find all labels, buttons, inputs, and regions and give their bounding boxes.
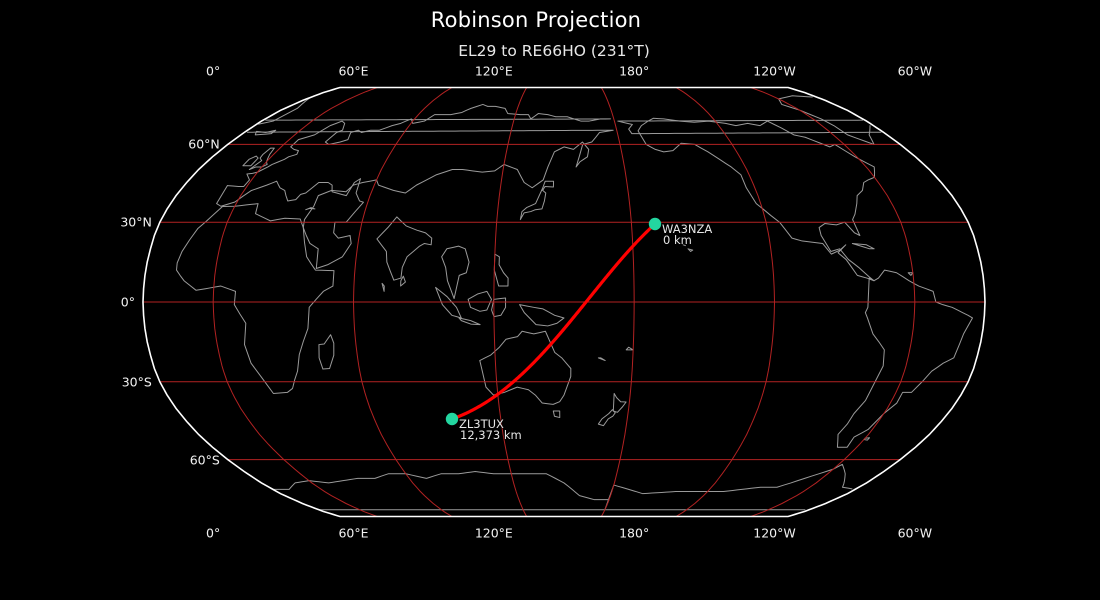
coastline-polygon [638, 118, 875, 280]
coastline-polygon [217, 130, 614, 268]
lon-tick-bottom-0: 60°E [338, 526, 368, 541]
map-continents-group [177, 96, 973, 510]
map-figure: Robinson Projection EL29 to RE66HO (231°… [0, 0, 1100, 600]
coastline-polygon [553, 411, 559, 418]
coastline-polygon [480, 331, 571, 404]
lon-tick-bottom-2: 180° [619, 526, 649, 541]
lon-tick-top-3: 120°W [753, 64, 795, 79]
coastline-polygon [442, 246, 469, 298]
coastline-polygon [382, 283, 384, 291]
marker-distance-label: 12,373 km [460, 428, 522, 442]
lat-tick-2: 0° [121, 295, 135, 310]
lat-tick-3: 30°S [122, 374, 152, 389]
coastline-polygon [177, 204, 334, 394]
coastline-polygon [614, 464, 852, 493]
graticule-lines [143, 88, 985, 517]
lon-tick-top-5: 0° [206, 64, 220, 79]
coastline-polygon [626, 347, 633, 350]
lon-tick-bottom-3: 120°W [753, 526, 795, 541]
coastline-polygon [468, 291, 491, 311]
coastline-polygon [377, 217, 432, 280]
coastline-polygon [520, 305, 564, 326]
coastline-polygon [852, 243, 874, 248]
coastline-polygon [227, 104, 610, 186]
coastline-polygon [306, 208, 315, 210]
coastline-polygon [837, 270, 972, 447]
lon-tick-bottom-5: 0° [206, 526, 220, 541]
station-marker-wa3nza[interactable] [649, 218, 661, 230]
lon-tick-bottom-1: 120°E [475, 526, 513, 541]
lat-tick-4: 60°S [190, 452, 220, 467]
coastline-polygon [598, 410, 615, 426]
lon-tick-top-1: 120°E [475, 64, 513, 79]
coastline-polygon [436, 287, 462, 318]
coastline-polygon [494, 254, 508, 286]
coastlines [177, 96, 973, 510]
coastline-polygon [869, 126, 874, 145]
coastline-polygon [273, 472, 805, 510]
coastline-polygon [688, 249, 693, 252]
coastline-polygon [520, 181, 553, 219]
lat-tick-0: 60°N [188, 137, 220, 152]
lon-tick-bottom-4: 60°W [898, 526, 933, 541]
coastline-polygon [618, 120, 881, 133]
coastline-polygon [613, 394, 626, 413]
coastline-polygon [598, 358, 605, 361]
lat-tick-1: 30°N [120, 215, 152, 230]
lon-tick-top-0: 60°E [338, 64, 368, 79]
station-marker-zl3tux[interactable] [446, 413, 458, 425]
marker-distance-label: 0 km [663, 233, 692, 247]
world-map-svg [0, 0, 1100, 600]
lon-tick-top-2: 180° [619, 64, 649, 79]
lon-tick-top-4: 60°W [898, 64, 933, 79]
coastline-polygon [459, 318, 480, 325]
coastline-polygon [319, 335, 334, 369]
great-circle-path [452, 224, 655, 419]
coastline-polygon [908, 273, 913, 276]
